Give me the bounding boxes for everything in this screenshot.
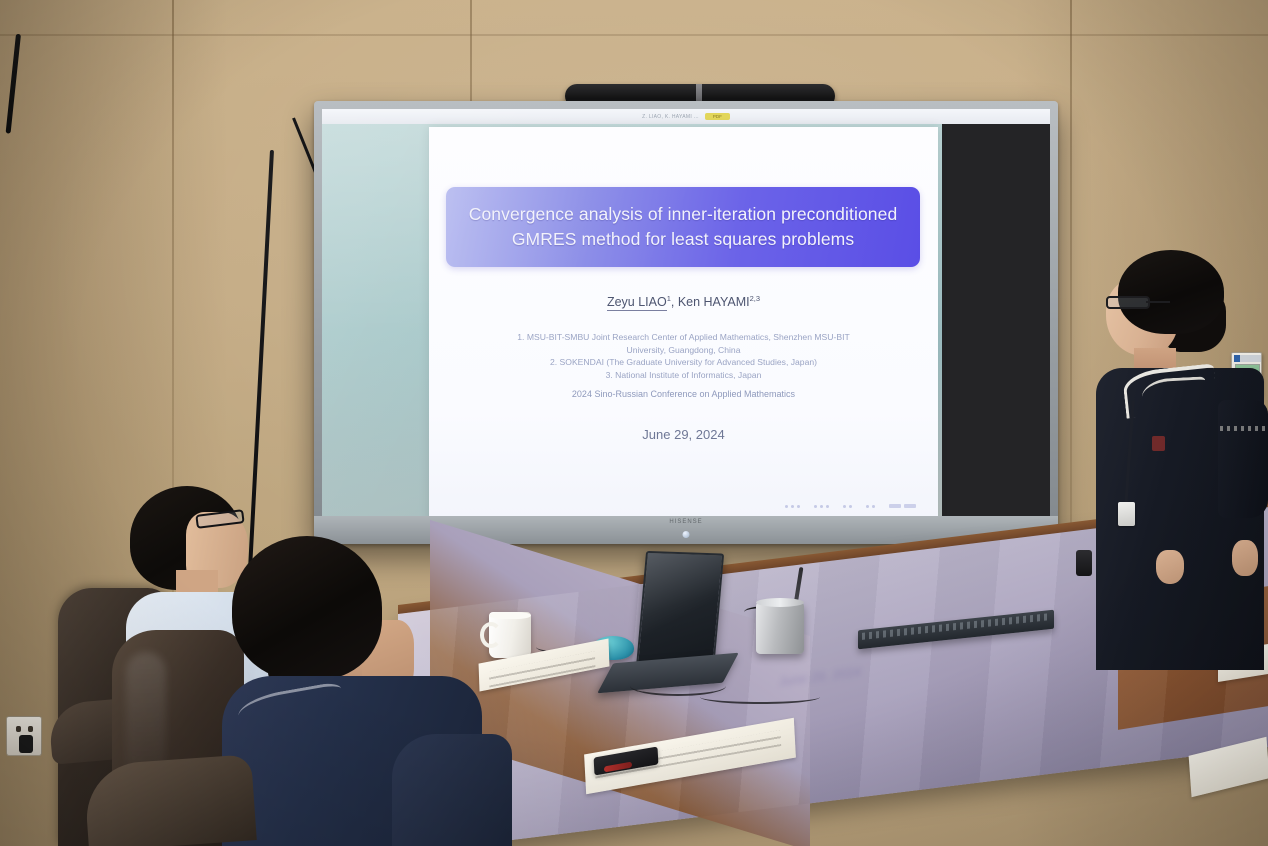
shirt-logo xyxy=(1152,436,1165,451)
author-secondary: Ken HAYAMI xyxy=(678,295,750,309)
presenter-sleeve-cuff xyxy=(1220,426,1266,431)
socket-holes xyxy=(16,726,34,732)
slide-affiliations: 1. MSU-BIT-SMBU Joint Research Center of… xyxy=(451,331,916,381)
affiliation-3: 3. National Institute of Informatics, Ja… xyxy=(451,369,916,382)
coffee-mug[interactable] xyxy=(489,612,531,658)
affiliation-1b: University, Guangdong, China xyxy=(451,344,916,357)
wall-power-socket[interactable] xyxy=(6,716,42,756)
slide-title-line-2: GMRES method for least squares problems xyxy=(512,227,854,252)
presenter-hand-right xyxy=(1232,540,1258,576)
laptop-screen-glare xyxy=(638,553,722,669)
slide-authors: Zeyu LIAO1, Ken HAYAMI2,3 xyxy=(429,294,938,309)
glasses-icon xyxy=(1106,296,1150,309)
presenter-person xyxy=(1090,250,1268,670)
display-power-led xyxy=(683,531,690,538)
speaker-top-rim xyxy=(756,598,804,607)
attendee-2-shoulder xyxy=(392,734,512,846)
author-separator: , xyxy=(671,295,678,309)
wall-display[interactable]: Z. LIAO, K. HAYAMI ... PDF Convergence a… xyxy=(314,101,1058,544)
presenter-collar-trim-inner xyxy=(1141,376,1207,419)
affiliation-1a: 1. MSU-BIT-SMBU Joint Research Center of… xyxy=(451,331,916,344)
presentation-clicker[interactable] xyxy=(1076,550,1092,576)
id-badge xyxy=(1118,502,1135,526)
screen-content: Z. LIAO, K. HAYAMI ... PDF Convergence a… xyxy=(322,109,1050,516)
conference-speaker[interactable] xyxy=(756,602,804,654)
author-primary: Zeyu LIAO xyxy=(607,295,667,311)
presenter-hair xyxy=(1118,250,1224,334)
display-brand-logo: HISENSE xyxy=(669,519,702,525)
attendee-2-hair xyxy=(232,536,382,680)
slide-title-banner: Convergence analysis of inner-iteration … xyxy=(446,187,920,267)
slide-conference: 2024 Sino-Russian Conference on Applied … xyxy=(429,389,938,399)
author-secondary-sup: 2,3 xyxy=(750,294,760,303)
display-panel: Z. LIAO, K. HAYAMI ... PDF Convergence a… xyxy=(322,109,1050,516)
toolbar-chip-button[interactable]: PDF xyxy=(705,113,730,120)
presenter-sleeve xyxy=(1218,400,1268,518)
pdf-viewer-toolbar[interactable]: Z. LIAO, K. HAYAMI ... PDF xyxy=(322,109,1050,124)
presentation-slide: Convergence analysis of inner-iteration … xyxy=(429,127,938,516)
toolbar-title: Z. LIAO, K. HAYAMI ... xyxy=(642,114,699,120)
mug-rim xyxy=(489,612,531,619)
screen-letterbox-right xyxy=(942,109,1050,516)
power-plug[interactable] xyxy=(19,735,33,753)
beamer-navigation-bullets[interactable] xyxy=(785,504,916,508)
affiliation-2: 2. SOKENDAI (The Graduate University for… xyxy=(451,356,916,369)
cable-3 xyxy=(700,690,820,704)
slide-title-line-1: Convergence analysis of inner-iteration … xyxy=(469,202,898,227)
slide-date: June 29, 2024 xyxy=(429,427,938,442)
presenter-hand-left xyxy=(1156,550,1184,584)
laptop-screen[interactable] xyxy=(636,551,724,671)
conference-room-scene: 25 Z. LIAO, K. HAYAMI ... PDF xyxy=(0,0,1268,846)
